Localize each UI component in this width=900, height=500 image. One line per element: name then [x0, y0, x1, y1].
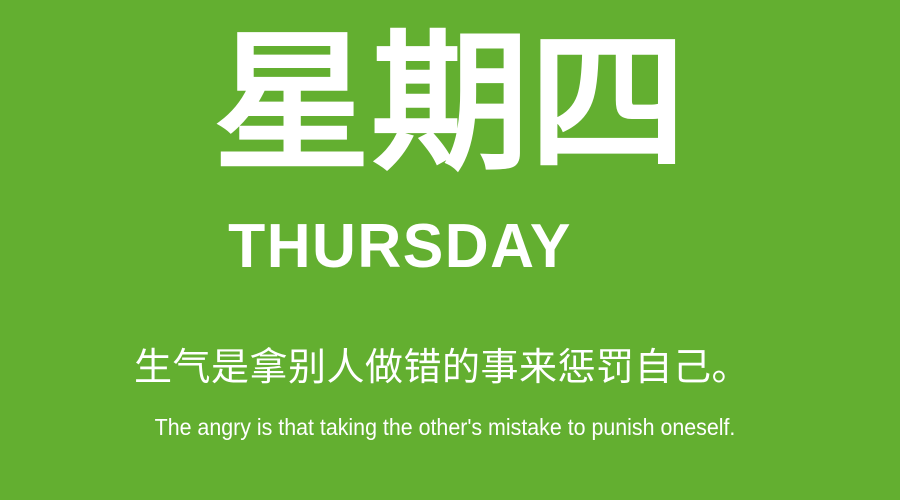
weekday-title-english: THURSDAY: [0, 216, 841, 278]
quote-text-chinese: 生气是拿别人做错的事来惩罚自己。: [0, 346, 892, 390]
weekday-heading-block: 星期四 THURSDAY: [0, 0, 900, 300]
weekday-title-chinese: 星期四: [0, 28, 900, 180]
quote-block: 生气是拿别人做错的事来惩罚自己。 The angry is that takin…: [0, 330, 900, 470]
quote-text-english: The angry is that taking the other's mis…: [27, 414, 864, 442]
weekday-quote-card: 星期四 THURSDAY 生气是拿别人做错的事来惩罚自己。 The angry …: [0, 0, 900, 500]
